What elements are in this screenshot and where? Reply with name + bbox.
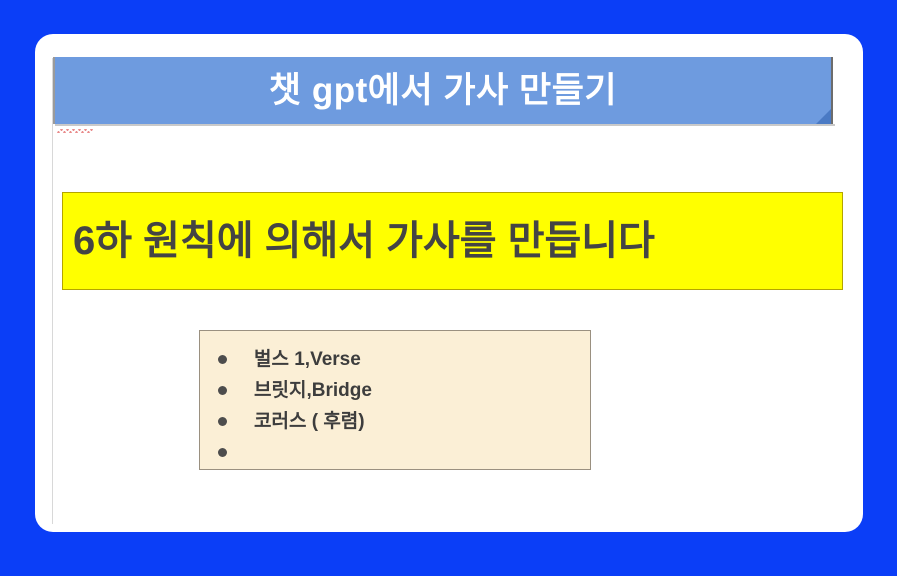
list-item xyxy=(218,437,590,468)
title-banner-shadow xyxy=(55,124,835,126)
bullet-list-box: 벌스 1,Verse 브릿지,Bridge 코러스 ( 후렴) xyxy=(199,330,591,470)
page-fold-corner-icon xyxy=(816,109,831,124)
spellcheck-squiggle-icon xyxy=(57,129,93,133)
list-item-label: 벌스 1,Verse xyxy=(254,350,361,369)
bullet-dot-icon xyxy=(218,448,227,457)
highlight-statement-box: 6하 원칙에 의해서 가사를 만듭니다 xyxy=(62,192,843,290)
bullet-dot-icon xyxy=(218,386,227,395)
title-banner: 챗 gpt에서 가사 만들기 xyxy=(53,57,833,124)
highlight-statement-text: 6하 원칙에 의해서 가사를 만듭니다 xyxy=(73,221,655,261)
slide-canvas: 챗 gpt에서 가사 만들기 6하 원칙에 의해서 가사를 만듭니다 벌스 1,… xyxy=(0,0,897,576)
page-title: 챗 gpt에서 가사 만들기 xyxy=(269,73,617,108)
page-margin-rule xyxy=(52,58,53,524)
list-item-label: 코러스 ( 후렴) xyxy=(254,412,365,431)
list-item: 브릿지,Bridge xyxy=(218,375,590,406)
list-item: 코러스 ( 후렴) xyxy=(218,406,590,437)
list-item: 벌스 1,Verse xyxy=(218,344,590,375)
slide-card: 챗 gpt에서 가사 만들기 6하 원칙에 의해서 가사를 만듭니다 벌스 1,… xyxy=(35,34,863,532)
list-item-label: 브릿지,Bridge xyxy=(254,381,372,400)
bullet-dot-icon xyxy=(218,417,227,426)
bullet-dot-icon xyxy=(218,355,227,364)
